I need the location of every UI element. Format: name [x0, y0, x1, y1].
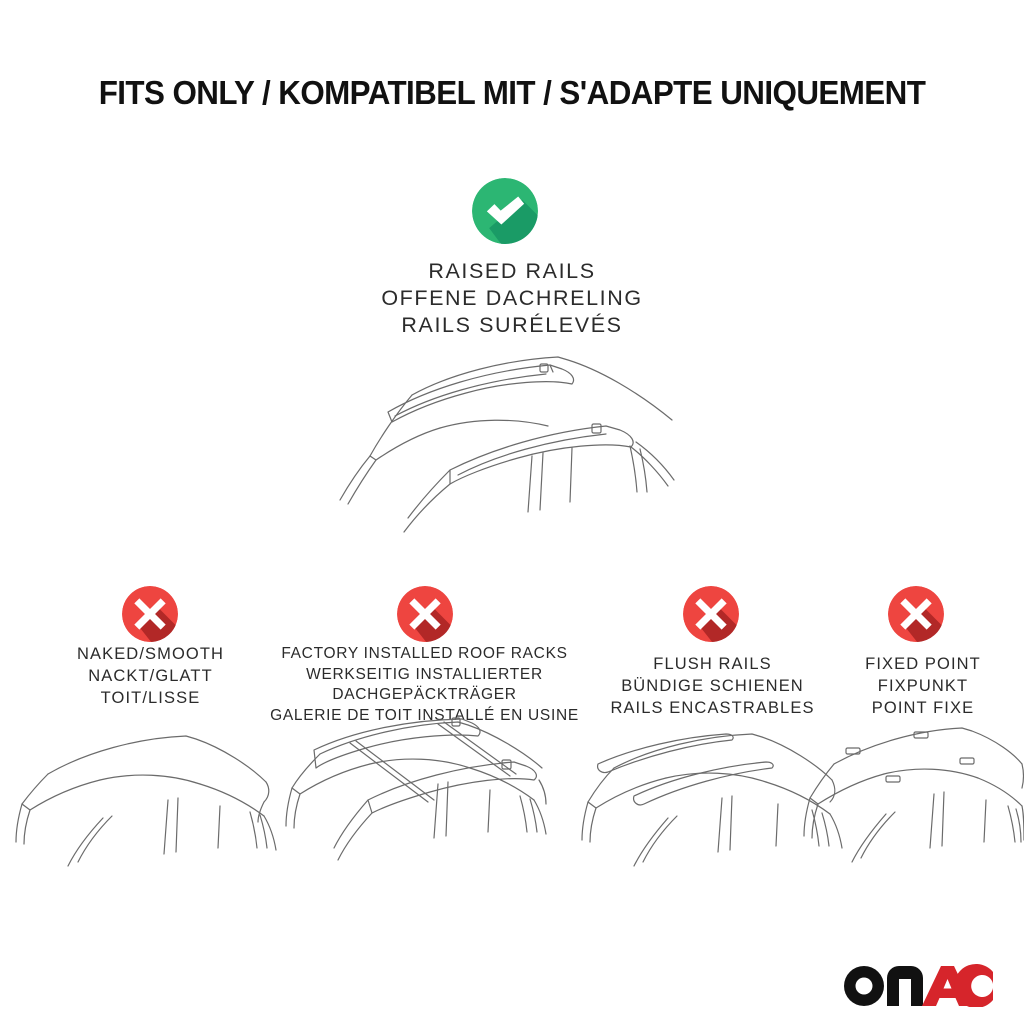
caption-line: POINT FIXE — [833, 698, 1013, 720]
caption-line: FLUSH RAILS — [600, 654, 825, 676]
caption-line: RAILS SURÉLEVÉS — [0, 312, 1024, 339]
caption-line: FIXED POINT — [833, 654, 1013, 676]
caption-line: FACTORY INSTALLED ROOF RACKS — [262, 644, 587, 665]
caption-line: NAKED/SMOOTH — [38, 644, 263, 666]
x-circle-icon — [888, 586, 944, 642]
incompatible-caption-4: FIXED POINT FIXPUNKT POINT FIXE — [833, 654, 1013, 720]
page-title: FITS ONLY / KOMPATIBEL MIT / S'ADAPTE UN… — [26, 74, 999, 112]
caption-line: BÜNDIGE SCHIENEN — [600, 676, 825, 698]
car-roof-factory-racks-illustration — [272, 716, 567, 891]
x-circle-icon — [122, 586, 178, 642]
caption-line: RAISED RAILS — [0, 258, 1024, 285]
x-circle-icon — [397, 586, 453, 642]
caption-line: NACKT/GLATT — [38, 666, 263, 688]
check-circle-icon — [472, 178, 538, 244]
incompatible-caption-1: NAKED/SMOOTH NACKT/GLATT TOIT/LISSE — [38, 644, 263, 710]
caption-line: RAILS ENCASTRABLES — [600, 698, 825, 720]
caption-line: TOIT/LISSE — [38, 688, 263, 710]
caption-line: FIXPUNKT — [833, 676, 1013, 698]
car-roof-fixed-point-illustration — [800, 720, 1024, 890]
caption-line: WERKSEITIG INSTALLIERTER — [262, 665, 587, 686]
caption-line: DACHGEPÄCKTRÄGER — [262, 685, 587, 706]
incompatible-caption-3: FLUSH RAILS BÜNDIGE SCHIENEN RAILS ENCAS… — [600, 654, 825, 720]
car-roof-naked-smooth-illustration — [8, 726, 278, 891]
car-roof-raised-rails-illustration — [300, 352, 695, 552]
compatible-caption: RAISED RAILS OFFENE DACHRELING RAILS SUR… — [0, 258, 1024, 339]
caption-line: OFFENE DACHRELING — [0, 285, 1024, 312]
x-circle-icon — [683, 586, 739, 642]
omac-logo — [843, 963, 993, 1007]
incompatible-caption-2: FACTORY INSTALLED ROOF RACKS WERKSEITIG … — [262, 644, 587, 726]
infographic-root: FITS ONLY / KOMPATIBEL MIT / S'ADAPTE UN… — [0, 0, 1024, 1024]
